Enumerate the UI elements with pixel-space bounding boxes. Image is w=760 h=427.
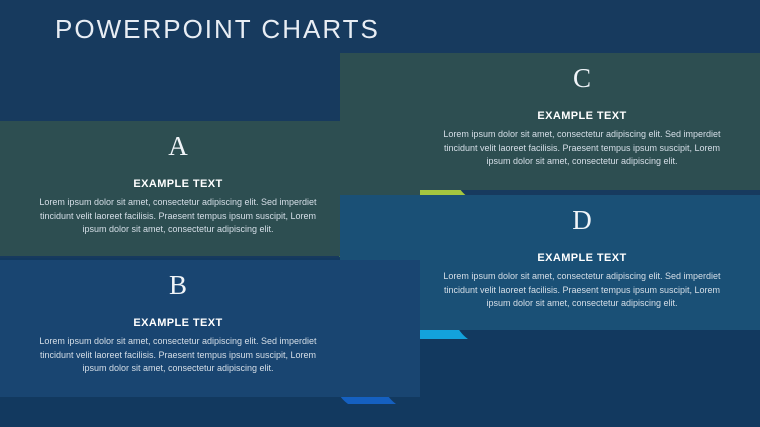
panel-d-heading: EXAMPLE TEXT [432,252,732,264]
panel-d-content: D EXAMPLE TEXT Lorem ipsum dolor sit ame… [432,207,732,311]
slide-canvas: POWERPOINT CHARTS C EXAMPLE TEXT Lorem i… [0,0,760,427]
panel-c-heading: EXAMPLE TEXT [432,110,732,122]
panel-a-body: Lorem ipsum dolor sit amet, consectetur … [28,196,328,237]
panel-b-heading: EXAMPLE TEXT [28,317,328,329]
page-title: POWERPOINT CHARTS [55,14,380,45]
panel-d-letter: D [432,207,732,234]
panel-a-heading: EXAMPLE TEXT [28,178,328,190]
content-panel-b[interactable]: B EXAMPLE TEXT Lorem ipsum dolor sit ame… [0,260,420,397]
panel-c-body: Lorem ipsum dolor sit amet, consectetur … [432,128,732,169]
panel-b-letter: B [28,272,328,299]
panel-c-content: C EXAMPLE TEXT Lorem ipsum dolor sit ame… [432,65,732,169]
panel-a-letter: A [28,133,328,160]
panel-d-body: Lorem ipsum dolor sit amet, consectetur … [432,270,732,311]
panel-b-content: B EXAMPLE TEXT Lorem ipsum dolor sit ame… [28,272,328,376]
panel-c-letter: C [432,65,732,92]
panel-b-body: Lorem ipsum dolor sit amet, consectetur … [28,335,328,376]
panel-a-content: A EXAMPLE TEXT Lorem ipsum dolor sit ame… [28,133,328,237]
